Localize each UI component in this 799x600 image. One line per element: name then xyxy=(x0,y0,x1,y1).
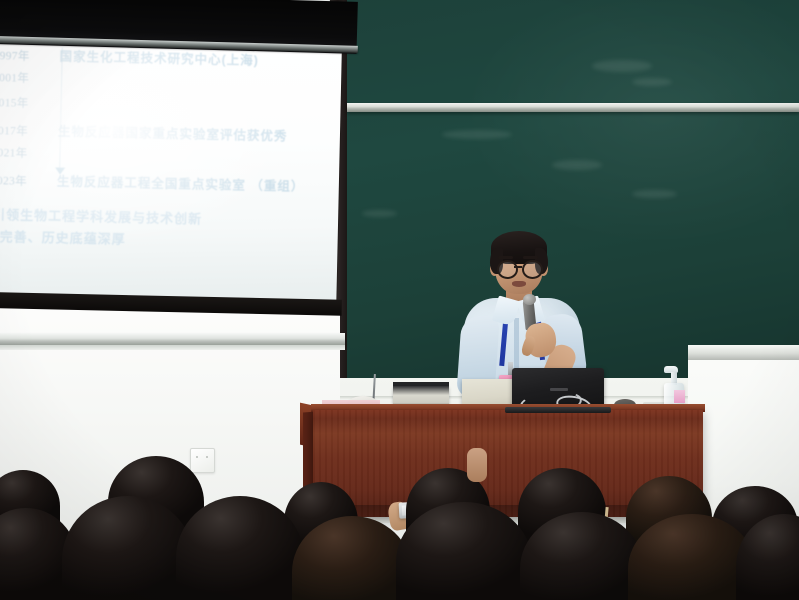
projection-screen: 1997年 国家生化工程技术研究中心(上海) 2001年 2015年 2017年… xyxy=(0,38,342,301)
raised-arm xyxy=(467,448,487,482)
slide-row: 2015年 xyxy=(0,94,59,111)
sanitizer-label xyxy=(674,390,685,403)
chalk-rail xyxy=(347,103,799,112)
slide-year: 2023年 xyxy=(0,172,57,189)
slide-year: 2001年 xyxy=(0,69,59,86)
slide-footer-line: 、引领生物工程学科发展与技术创新 xyxy=(0,204,202,228)
slide-row: 2017年 生物反应器国家重点实验室评估获优秀 xyxy=(0,119,288,144)
speaker-eyebrow-right xyxy=(523,256,538,259)
slide-year: 2015年 xyxy=(0,94,59,111)
slide-year: 2017年 xyxy=(0,122,58,139)
slide-year: 2021年 xyxy=(0,144,58,161)
glasses-bridge xyxy=(514,266,522,268)
speaker-eyebrow-left xyxy=(498,256,513,259)
slide-footer-line: 立点完善、历史底蕴深厚 xyxy=(0,226,126,248)
slide-row: 2021年 xyxy=(0,144,58,161)
slide-row: 2001年 xyxy=(0,69,59,86)
wall-molding xyxy=(688,345,799,360)
speaker-mouth xyxy=(512,281,526,287)
lecture-hall-photo: 1997年 国家生化工程技术研究中心(上海) 2001年 2015年 2017年… xyxy=(0,0,799,600)
slide-row: 2023年 生物反应器工程全国重点实验室 （重组） xyxy=(0,169,305,195)
presentation-slide: 1997年 国家生化工程技术研究中心(上海) 2001年 2015年 2017年… xyxy=(0,38,342,301)
slide-text: 生物反应器国家重点实验室评估获优秀 xyxy=(58,121,288,145)
glasses-icon xyxy=(497,260,518,279)
slide-year: 1997年 xyxy=(0,47,60,64)
glasses-icon xyxy=(522,260,543,279)
slide-divider xyxy=(59,48,63,168)
laptop-base xyxy=(505,407,611,413)
wall-ledge xyxy=(0,333,345,345)
wall-ledge-lower xyxy=(0,345,345,350)
slide-text: 生物反应器工程全国重点实验室 （重组） xyxy=(57,170,305,194)
audience xyxy=(0,420,799,600)
